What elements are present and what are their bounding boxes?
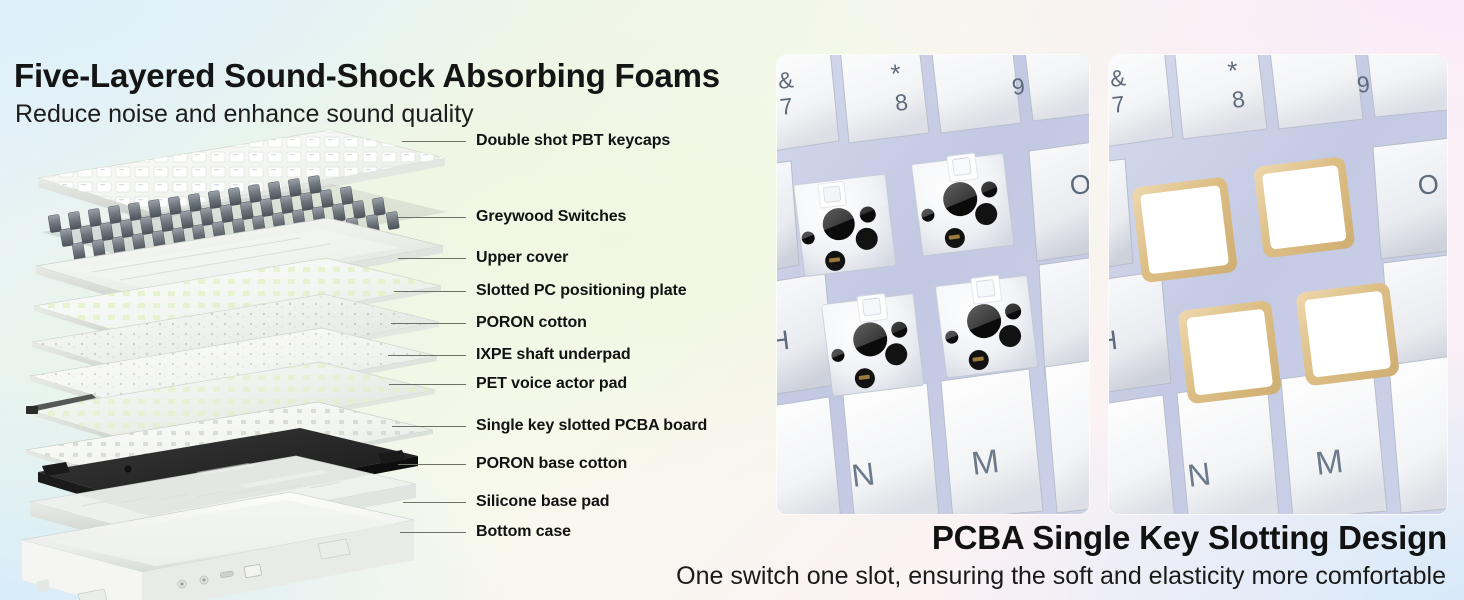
switch-sockets-photo[interactable]: & 7 * 8 ` 9 O H [777, 55, 1089, 514]
callout-leader-line [396, 217, 466, 218]
callout-leader-line [398, 464, 466, 465]
callout-row: PORON base cotton [398, 454, 627, 474]
callout-label: Bottom case [476, 523, 571, 541]
callout-leader-line [402, 141, 466, 142]
switch-socket [935, 272, 1038, 378]
callout-label: Greywood Switches [476, 208, 626, 226]
callout-label: Single key slotted PCBA board [476, 417, 707, 435]
callout-leader-line [389, 384, 466, 385]
callout-leader-line [388, 355, 466, 356]
gold-slot [1253, 156, 1356, 259]
svg-text:&: & [777, 66, 795, 94]
switch-socket [911, 150, 1014, 256]
callout-row: Slotted PC positioning plate [394, 281, 687, 301]
callout-label: PORON cotton [476, 314, 587, 332]
callout-row: Silicone base pad [403, 492, 609, 512]
callout-leader-line [400, 532, 466, 533]
infographic-canvas: Five-Layered Sound-Shock Absorbing Foams… [0, 0, 1464, 600]
callout-leader-line [392, 426, 466, 427]
callout-row: Single key slotted PCBA board [392, 416, 707, 436]
callout-row: Upper cover [398, 248, 568, 268]
callout-row: IXPE shaft underpad [388, 345, 631, 365]
pcba-section-subtitle: One switch one slot, ensuring the soft a… [676, 562, 1446, 591]
switch-socket [821, 290, 924, 396]
callout-label: Slotted PC positioning plate [476, 282, 687, 300]
svg-text:&: & [1109, 64, 1127, 92]
gold-slot-svg: & 7 * 8 ` 9 O H [1109, 55, 1447, 514]
callout-row: Bottom case [400, 522, 571, 542]
svg-text:N: N [1185, 455, 1212, 494]
callout-row: PET voice actor pad [389, 374, 627, 394]
callout-leader-line [394, 291, 466, 292]
svg-text:O: O [1416, 169, 1441, 201]
svg-text:M: M [969, 442, 1001, 482]
switch-sockets-svg: & 7 * 8 ` 9 O H [777, 55, 1089, 514]
callout-label: PET voice actor pad [476, 375, 627, 393]
callout-leader-line [391, 323, 466, 324]
pcba-section-title: PCBA Single Key Slotting Design [932, 519, 1447, 557]
callout-label: PORON base cotton [476, 455, 627, 473]
callout-label: Silicone base pad [476, 493, 609, 511]
page-title: Five-Layered Sound-Shock Absorbing Foams [14, 57, 720, 95]
svg-text:M: M [1313, 442, 1345, 482]
callout-leader-line [403, 502, 466, 503]
callout-row: PORON cotton [391, 313, 587, 333]
gold-slot [1295, 282, 1400, 387]
switch-socket [794, 174, 897, 277]
callout-label: Double shot PBT keycaps [476, 132, 670, 150]
callout-label: IXPE shaft underpad [476, 346, 631, 364]
callout-label: Upper cover [476, 249, 568, 267]
callout-leader-line [398, 258, 466, 259]
callout-row: Double shot PBT keycaps [402, 131, 670, 151]
gold-slot-photo[interactable]: & 7 * 8 ` 9 O H [1109, 55, 1447, 514]
svg-text:N: N [849, 455, 876, 494]
gold-slot [1131, 176, 1238, 283]
callout-row: Greywood Switches [396, 207, 626, 227]
gold-slot [1177, 300, 1282, 405]
svg-text:O: O [1068, 169, 1089, 201]
